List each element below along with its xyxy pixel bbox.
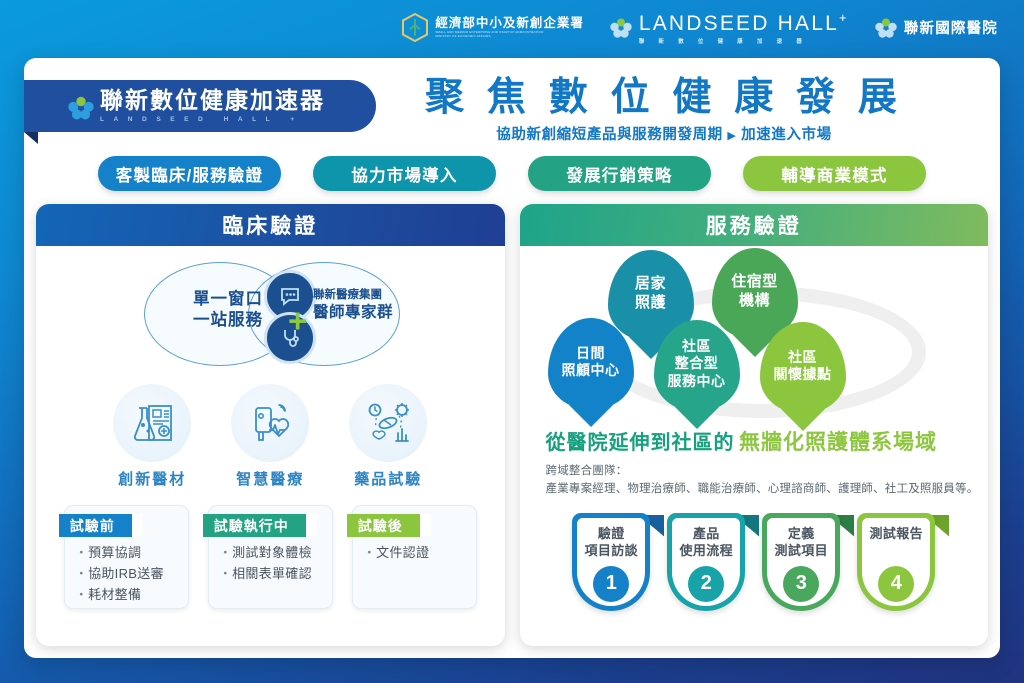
care-blob-label: 日間照顧中心: [562, 345, 620, 384]
trial-stage-card: 試驗執行中測試對象體檢相關表單確認: [208, 505, 333, 609]
service-tagline-part2: 無牆化照護體系場域: [739, 431, 937, 454]
headline-sub: 協助新創縮短產品與服務開發周期 ▶ 加速進入市場: [404, 123, 924, 144]
service-step-label: 驗證項目訪談: [584, 525, 638, 559]
landseed-flower-icon: [68, 96, 90, 116]
poster-header: 聯新數位健康加速器 LANDSEED HALL + 聚 焦 數 位 健 康 發 …: [24, 58, 1000, 148]
panels-row: 臨床驗證 單一窗口 一站服務: [36, 204, 988, 646]
capability-icon-row: 創新醫材智慧醫療藥品試驗: [36, 384, 505, 489]
moea-name-en-line2: MINISTRY OF ECONOMIC AFFAIRS: [435, 35, 584, 38]
lab-flask-document-icon: [113, 384, 191, 462]
landseed-flower-icon: [875, 18, 897, 38]
service-step-number: 4: [878, 566, 914, 602]
poster-card: 聯新數位健康加速器 LANDSEED HALL + 聚 焦 數 位 健 康 發 …: [24, 58, 1000, 658]
pill-button-2[interactable]: 協力市場導入: [313, 156, 496, 191]
service-tagline-part1: 從醫院延伸到社區的: [546, 432, 735, 454]
care-network-diagram: 居家照護住宿型機構日間照顧中心社區整合型服務中心社區關懷據點: [520, 248, 989, 420]
trial-stage-item: 相關表單確認: [219, 563, 332, 584]
mobile-heartbeat-icon: [231, 384, 309, 462]
service-panel-title: 服務驗證: [520, 204, 989, 246]
trial-stage-item: 協助IRB送審: [75, 563, 188, 584]
banner-subtitle: LANDSEED HALL +: [100, 117, 325, 124]
trial-stage-item: 文件認證: [363, 542, 476, 563]
service-step-4[interactable]: 測試報告4: [857, 513, 935, 611]
care-blob-label: 社區整合型服務中心: [668, 338, 726, 395]
trial-stage-tag: 試驗執行中: [203, 514, 306, 537]
venn-plus-icon: +: [288, 304, 307, 337]
trial-stage-item: 測試對象體檢: [219, 542, 332, 563]
clinical-panel-title: 臨床驗證: [36, 204, 505, 246]
team-description-line1: 跨域整合團隊：: [546, 463, 989, 481]
pill-button-3[interactable]: 發展行銷策略: [528, 156, 711, 191]
headline-block: 聚 焦 數 位 健 康 發 展 協助新創縮短產品與服務開發周期 ▶ 加速進入市場: [404, 78, 924, 144]
clinical-validation-panel: 臨床驗證 單一窗口 一站服務: [36, 204, 505, 646]
tag-arrow-icon: [132, 514, 143, 536]
capability-item-1: 創新醫材: [113, 384, 191, 489]
capability-item-2: 智慧醫療: [231, 384, 309, 489]
service-step-badge: 測試報告4: [857, 513, 935, 611]
top-logo-bar: 經濟部中小及新創企業署 SMALL AND MEDIUM ENTERPRISE …: [0, 0, 1024, 55]
trial-stage-card: 試驗前預算協調協助IRB送審耗材整備: [64, 505, 189, 609]
service-tagline: 從醫院延伸到社區的 無牆化照護體系場域: [520, 426, 989, 456]
hospital-name: 聯新國際醫院: [904, 17, 998, 38]
venn-diagram: 單一窗口 一站服務 +: [36, 252, 505, 374]
trial-stage-card: 試驗後文件認證: [352, 505, 477, 609]
trial-stage-item: 預算協調: [75, 542, 188, 563]
trial-stage-tag: 試驗後: [347, 514, 420, 537]
pill-button-4[interactable]: 輔導商業模式: [743, 156, 926, 191]
moea-name-cn: 經濟部中小及新創企業署: [435, 17, 584, 30]
landseed-hall-title: LANDSEED HALL: [639, 12, 839, 35]
care-blob-label: 居家照護: [635, 275, 666, 317]
moea-logo-group: 經濟部中小及新創企業署 SMALL AND MEDIUM ENTERPRISE …: [402, 13, 584, 42]
service-validation-panel: 服務驗證 居家照護住宿型機構日間照顧中心社區整合型服務中心社區關懷據點 從醫院延…: [520, 204, 989, 646]
team-description-line2: 產業專案經理、物理治療師、職能治療師、心理諮商師、護理師、社工及照服員等。: [546, 481, 989, 499]
service-step-row: 驗證項目訪談1產品使用流程2定義測試項目3測試報告4: [520, 513, 989, 611]
service-step-badge: 定義測試項目3: [762, 513, 840, 611]
capability-item-3: 藥品試驗: [349, 384, 427, 489]
banner-title: 聯新數位健康加速器: [100, 89, 325, 112]
banner-fold-decoration: [24, 132, 38, 144]
service-step-1[interactable]: 驗證項目訪談1: [572, 513, 650, 611]
venn-right-label: 聯新醫療集團 醫師專家群: [313, 288, 433, 323]
headline-sub-before: 協助新創縮短產品與服務開發周期: [496, 127, 723, 143]
service-step-number: 2: [688, 566, 724, 602]
care-blob-label: 社區關懷據點: [774, 349, 832, 388]
tag-arrow-icon: [420, 514, 431, 536]
pill-row: 客製臨床/服務驗證協力市場導入發展行銷策略輔導商業模式: [24, 156, 1000, 191]
trial-stage-item: 耗材整備: [75, 584, 188, 605]
headline-main: 聚 焦 數 位 健 康 發 展: [404, 78, 924, 119]
trial-stage-list: 預算協調協助IRB送審耗材整備: [65, 536, 188, 605]
pill-button-1[interactable]: 客製臨床/服務驗證: [98, 156, 281, 191]
hexagon-tree-logo-icon: [402, 13, 428, 42]
team-description: 跨域整合團隊： 產業專案經理、物理治療師、職能治療師、心理諮商師、護理師、社工及…: [520, 463, 989, 499]
brand-banner: 聯新數位健康加速器 LANDSEED HALL +: [24, 80, 376, 132]
capability-label: 創新醫材: [118, 468, 186, 489]
service-step-2[interactable]: 產品使用流程2: [667, 513, 745, 611]
venn-left-label: 單一窗口 一站服務: [151, 289, 263, 331]
service-step-number: 3: [783, 566, 819, 602]
landseed-hall-subtitle: 聯 新 數 位 健 康 加 速 器: [639, 37, 849, 45]
headline-sub-after: 加速進入市場: [741, 127, 832, 143]
care-blob-label: 住宿型機構: [731, 273, 778, 315]
tag-arrow-icon: [306, 514, 317, 536]
service-step-label: 產品使用流程: [679, 525, 733, 559]
landseed-flower-icon: [610, 18, 632, 38]
service-step-label: 定義測試項目: [774, 525, 828, 559]
trial-stage-list: 測試對象體檢相關表單確認: [209, 536, 332, 584]
service-step-badge: 驗證項目訪談1: [572, 513, 650, 611]
service-step-label: 測試報告: [869, 525, 923, 542]
trial-stage-tag: 試驗前: [59, 514, 132, 537]
arrow-icon: ▶: [727, 130, 736, 142]
service-step-3[interactable]: 定義測試項目3: [762, 513, 840, 611]
service-step-number: 1: [593, 566, 629, 602]
landseed-hall-plus: +: [839, 10, 849, 25]
hospital-logo-group: 聯新國際醫院: [875, 17, 998, 38]
pills-analytics-icon: [349, 384, 427, 462]
trial-stage-row: 試驗前預算協調協助IRB送審耗材整備試驗執行中測試對象體檢相關表單確認試驗後文件…: [36, 505, 505, 609]
service-step-badge: 產品使用流程2: [667, 513, 745, 611]
capability-label: 智慧醫療: [236, 468, 304, 489]
landseed-hall-logo-group: LANDSEED HALL+ 聯 新 數 位 健 康 加 速 器: [610, 11, 849, 45]
capability-label: 藥品試驗: [354, 468, 422, 489]
trial-stage-list: 文件認證: [353, 536, 476, 563]
